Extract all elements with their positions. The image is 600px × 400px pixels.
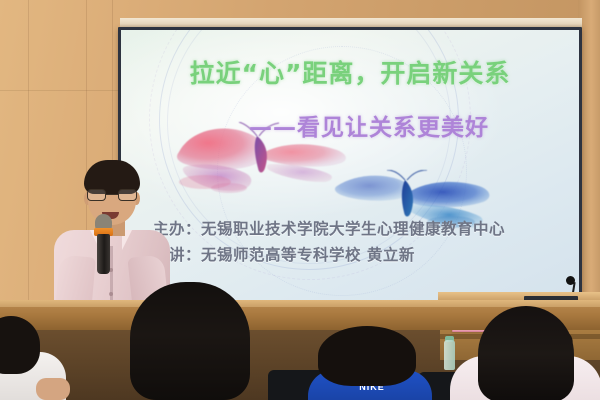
slide-credits: 主办：无锡职业技术学院大学生心理健康教育中心 主讲：无锡师范高等专科学校 黄立新 [153, 216, 505, 268]
slide-subtitle: ——看见让关系更美好 [121, 108, 579, 142]
microphone-stand-head-icon [566, 276, 575, 285]
wall-seam-horizontal [0, 90, 120, 91]
presentation-slide: 拉近“心”距离，开启新关系 ——看见让关系更美好 主办：无锡职业技术学院大学生心… [121, 30, 579, 305]
audience-member-hair [318, 326, 416, 386]
front-desk-surface [0, 300, 600, 307]
wall-seam [28, 0, 29, 330]
slide-title: 拉近“心”距离，开启新关系 [121, 54, 579, 90]
projection-screen: 拉近“心”距离，开启新关系 ——看见让关系更美好 主办：无锡职业技术学院大学生心… [118, 27, 582, 308]
microphone-body [97, 234, 110, 274]
lecture-hall-photo: 拉近“心”距离，开启新关系 ——看见让关系更美好 主办：无锡职业技术学院大学生心… [0, 0, 600, 400]
eyeglasses-icon [86, 189, 138, 201]
audience-member-long-hair [130, 282, 250, 400]
audience-member-arm [36, 378, 70, 400]
slide-credit-speaker: 主讲：无锡师范高等专科学校 黄立新 [153, 242, 505, 268]
audience-member-long-hair [478, 306, 574, 400]
water-bottle [444, 340, 455, 370]
slide-credit-organizer: 主办：无锡职业技术学院大学生心理健康教育中心 [153, 216, 505, 242]
shirt-button [109, 292, 113, 296]
